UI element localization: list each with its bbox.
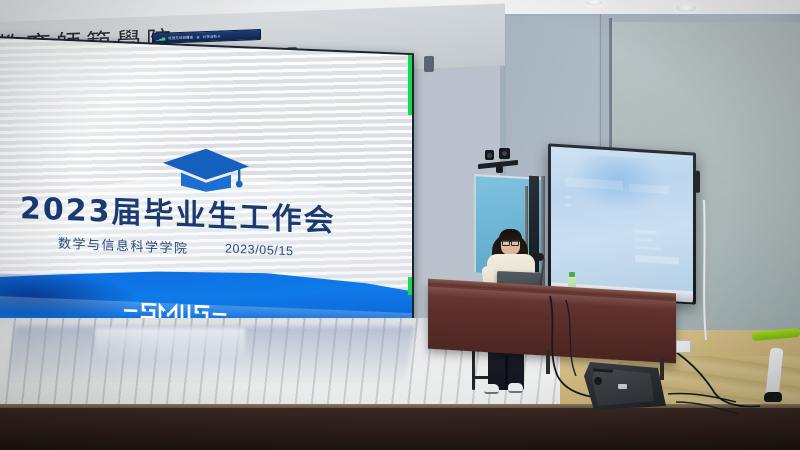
led-sign-left-text: 校园无线网覆盖 xyxy=(168,34,193,40)
tv-ghost-row xyxy=(635,246,661,251)
bystander-shoe xyxy=(764,392,782,402)
card-icon: ▣ xyxy=(196,35,199,39)
glasses-lens xyxy=(502,240,510,246)
screen-edge-indicator xyxy=(408,277,412,295)
camera-bracket xyxy=(496,166,503,173)
lecture-hall-photo: 教育師範學院 al Education 教育學院 師範大學 學院 學院 ▁▃▅ … xyxy=(0,0,800,450)
bottle-cap xyxy=(569,272,575,277)
tv-screen[interactable] xyxy=(551,147,693,293)
led-presentation-screen: 2023届毕业生工作会 数学与信息科学学院 2023/05/15 xyxy=(0,36,414,348)
ceiling-downlight xyxy=(676,4,696,12)
glasses-lens xyxy=(511,240,519,246)
graduation-cap-icon xyxy=(161,145,251,195)
led-sign-right-text: 共享自助卡 xyxy=(203,33,221,39)
floor-highlight-reflection xyxy=(95,328,245,362)
tv-ghost-button[interactable] xyxy=(635,255,679,265)
screen-edge-indicator xyxy=(408,55,412,115)
tv-ghost-row xyxy=(565,203,571,206)
presenter-shoe xyxy=(508,383,523,393)
camera-lens-icon xyxy=(487,153,492,158)
wall-power-socket[interactable] xyxy=(676,340,691,353)
tv-ghost-row xyxy=(635,230,657,234)
slide-date: 2023/05/15 xyxy=(225,241,294,258)
glasses-icon xyxy=(502,240,519,245)
ceiling-downlight xyxy=(586,0,602,5)
screen-mount-bracket xyxy=(424,56,434,72)
speaker-port xyxy=(594,377,602,385)
tv-side-control[interactable] xyxy=(694,171,700,193)
screen-surface: 2023届毕业生工作会 数学与信息科学学院 2023/05/15 xyxy=(0,38,412,343)
presenter-shoe xyxy=(484,384,499,394)
chair-leg xyxy=(472,348,475,390)
tv-ghost-row xyxy=(565,195,571,198)
speaker-brand-badge xyxy=(618,384,627,389)
desk-leg xyxy=(546,350,550,374)
tv-ghost-row xyxy=(635,238,653,242)
desk-leg xyxy=(660,358,664,380)
signal-bars-icon: ▁▃▅ xyxy=(156,36,165,40)
camera-lens-icon xyxy=(502,151,507,156)
microphone-capsule xyxy=(536,253,544,261)
stage-front-face xyxy=(0,408,800,450)
